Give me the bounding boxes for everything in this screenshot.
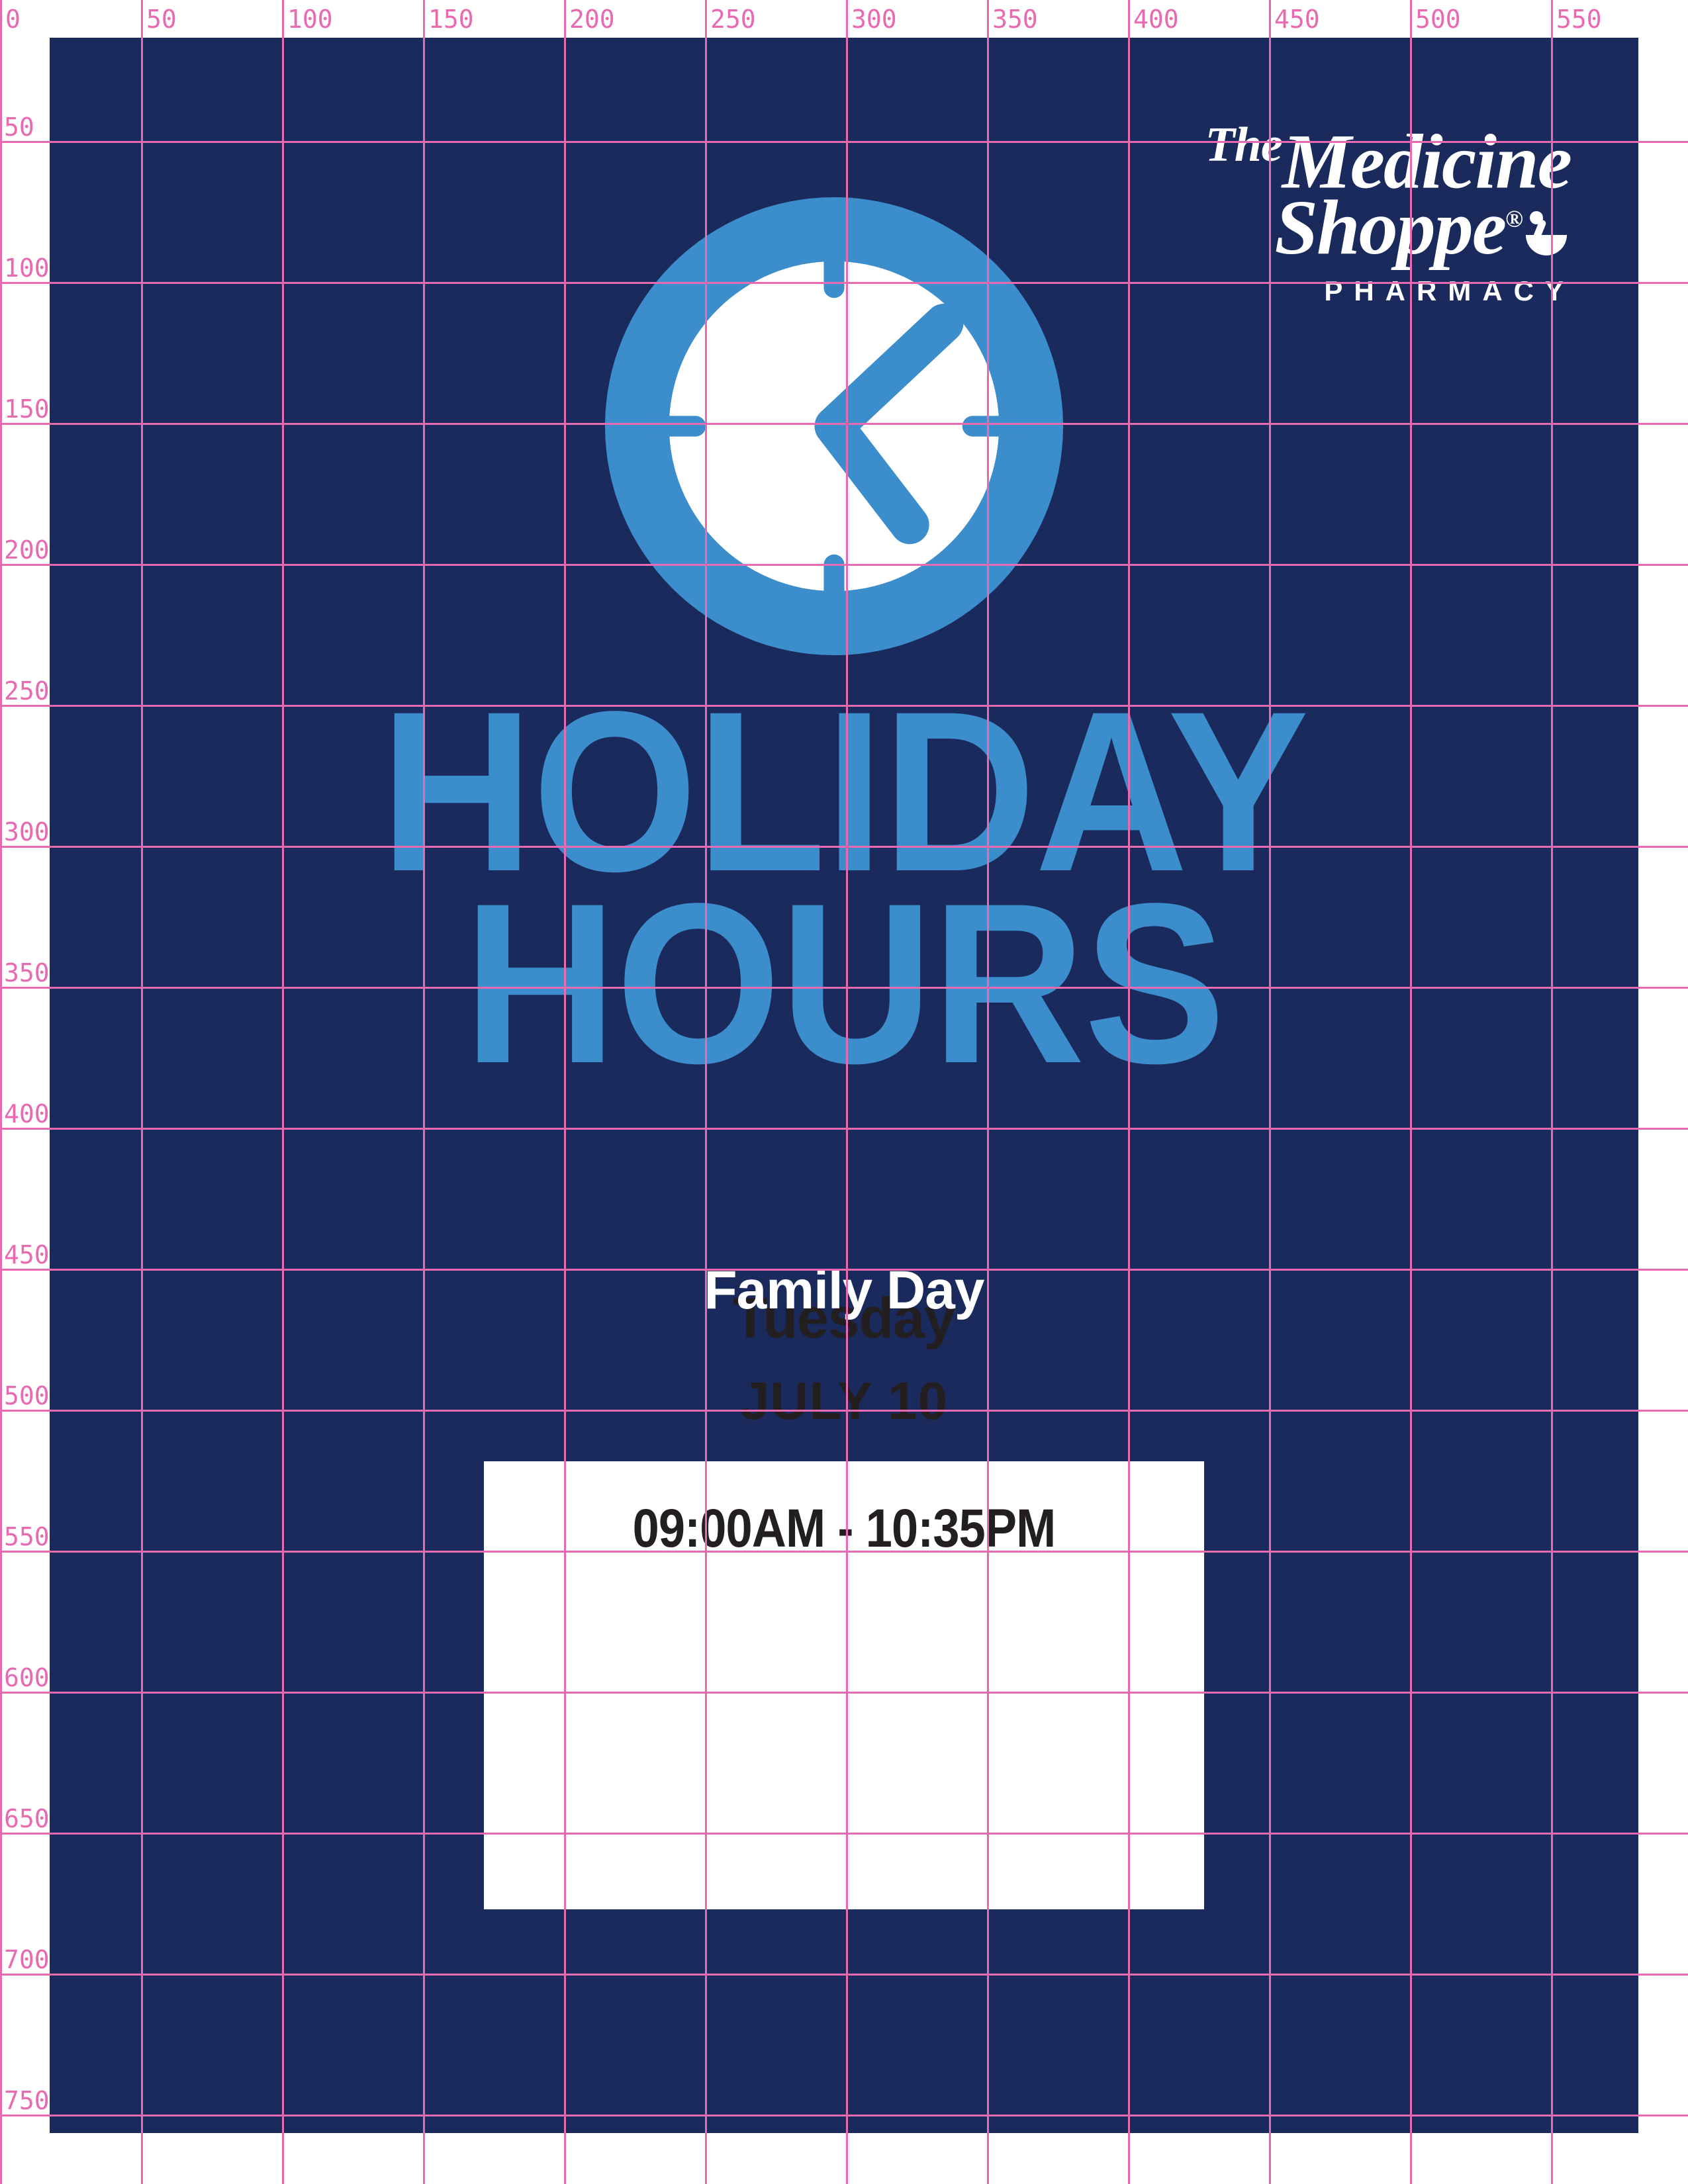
ruler-tick-label-y: 350 <box>4 960 50 985</box>
ruler-tick-label-x: 550 <box>1556 7 1602 32</box>
ruler-tick-label-y: 250 <box>4 678 50 704</box>
hours-card: 09:00AM - 10:35PM <box>484 1461 1204 1909</box>
ruler-tick-label-y: 400 <box>4 1101 50 1126</box>
ruler-tick-label-x: 500 <box>1415 7 1461 32</box>
brand-pharmacy-text: PHARMACY <box>1138 277 1575 305</box>
registered-trademark-icon: ® <box>1505 206 1522 232</box>
ruler-tick-label-y: 600 <box>4 1665 50 1690</box>
ruler-tick-label-x: 50 <box>146 7 177 32</box>
event-date-label: JULY 10 <box>50 1375 1638 1428</box>
ruler-tick-label-y: 550 <box>4 1524 50 1549</box>
brand-the-text: The <box>1205 118 1282 172</box>
ruler-tick-label-x: 150 <box>428 7 474 32</box>
page-title: HOLIDAY HOURS <box>50 696 1638 1080</box>
ruler-tick-label-y: 150 <box>4 396 50 422</box>
mortar-and-pestle-icon <box>1523 193 1572 271</box>
brand-shoppe-text: Shoppe <box>1274 184 1505 271</box>
ruler-tick-label-y: 450 <box>4 1242 50 1267</box>
ruler-tick-label-x: 300 <box>851 7 897 32</box>
ruler-tick-label-y: 100 <box>4 255 50 281</box>
ruler-tick-label-y: 750 <box>4 2088 50 2113</box>
ruler-tick-label-y: 50 <box>4 114 34 140</box>
ruler-tick-label-x: 350 <box>992 7 1038 32</box>
brand-logo-line-2: Shoppe® <box>1138 189 1575 271</box>
screenshot-canvas: TheMedicine Shoppe® PHARMACY <box>0 0 1688 2184</box>
poster-panel: TheMedicine Shoppe® PHARMACY <box>50 38 1638 2133</box>
hours-range-label: 09:00AM - 10:35PM <box>527 1498 1160 1560</box>
ruler-tick-label-y: 300 <box>4 819 50 844</box>
ruler-tick-label-y: 650 <box>4 1806 50 1831</box>
ruler-tick-label-y: 500 <box>4 1383 50 1408</box>
ruler-tick-label-y: 200 <box>4 537 50 563</box>
headline-line-2: HOURS <box>105 888 1583 1080</box>
ruler-tick-label-x: 450 <box>1274 7 1320 32</box>
clock-icon <box>605 197 1063 655</box>
ruler-tick-label-x: 100 <box>287 7 333 32</box>
ruler-tick-label-x: 400 <box>1133 7 1179 32</box>
ruler-gridline-vertical <box>0 0 2 2184</box>
event-name-label: Family Day <box>50 1263 1638 1318</box>
ruler-tick-label-x: 200 <box>569 7 615 32</box>
ruler-tick-label-x: 0 <box>5 7 21 32</box>
ruler-tick-label-x: 250 <box>710 7 756 32</box>
ruler-tick-label-y: 700 <box>4 1947 50 1972</box>
medicine-shoppe-logo: TheMedicine Shoppe® PHARMACY <box>1138 120 1575 305</box>
